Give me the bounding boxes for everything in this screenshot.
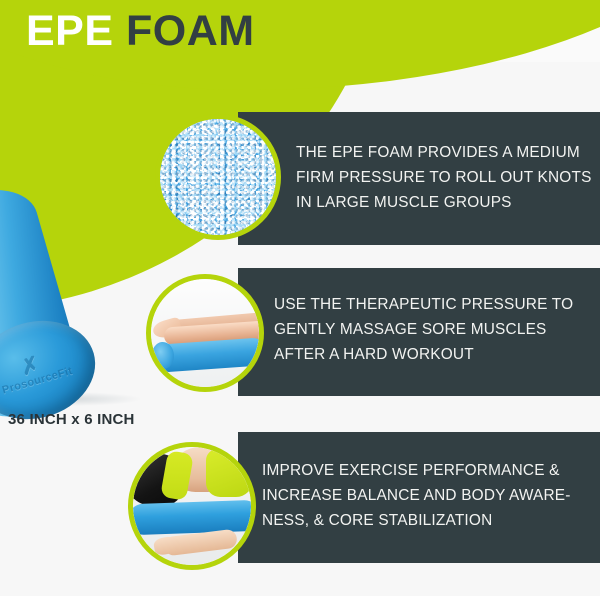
feature-panel-3: IMPROVE EXERCISE PERFORMANCE & INCREASE …: [238, 432, 600, 563]
feature-panel-1-text: THE EPE FOAM PROVIDES A MEDIUM FIRM PRES…: [296, 140, 596, 215]
sports-top-icon: [206, 449, 251, 496]
feature-2-photo-legs-on-roller: [146, 274, 264, 392]
feature-panel-2: USE THE THERAPEUTIC PRESSURE TO GENTLY M…: [238, 268, 600, 396]
foam-texture-icon: [160, 119, 276, 235]
feature-3-photo-plank-on-roller: [128, 442, 256, 570]
feature-1-photo-inner: [160, 119, 276, 235]
feature-panel-3-text: IMPROVE EXERCISE PERFORMANCE & INCREASE …: [262, 458, 592, 533]
plank-roller-icon: [133, 500, 251, 535]
feature-panel-1: THE EPE FOAM PROVIDES A MEDIUM FIRM PRES…: [238, 112, 600, 245]
feature-panel-2-text: USE THE THERAPEUTIC PRESSURE TO GENTLY M…: [274, 292, 594, 367]
feature-1-photo-foam-texture: [155, 114, 281, 240]
title-word-epe: EPE: [26, 7, 114, 55]
infographic-stage: EPE FOAM ✗ ProsourceFit 36 INCH x 6 INCH…: [0, 0, 600, 596]
feature-2-photo-inner: [151, 279, 259, 387]
product-foam-roller: ✗ ProsourceFit: [0, 244, 126, 416]
product-dimensions-label: 36 INCH x 6 INCH: [8, 411, 135, 428]
feature-3-photo-inner: [133, 447, 251, 565]
title-word-foam: FOAM: [126, 7, 255, 55]
page-title: EPE FOAM: [26, 10, 255, 53]
